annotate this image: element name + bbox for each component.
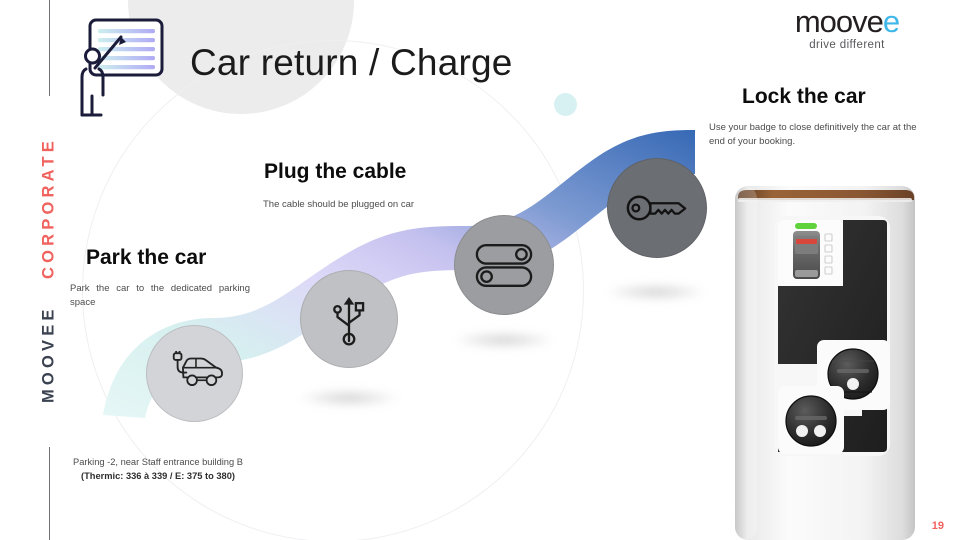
step-circle-plug[interactable] <box>300 270 398 368</box>
parking-caption-line1: Parking -2, near Staff entrance <box>73 457 199 467</box>
step-description-plug: The cable should be plugged on car <box>263 198 493 212</box>
key-icon <box>626 192 688 224</box>
logo-name-accent: e <box>883 4 899 39</box>
logo-name-main: moove <box>795 4 883 39</box>
parking-caption-bold: (Thermic: 336 à 339 / E: 375 to 380) <box>60 470 256 484</box>
circle-shadow <box>452 330 556 350</box>
rail-line-top <box>49 0 50 96</box>
presenter-whiteboard-icon <box>68 12 168 122</box>
sidebar-brand-moovee: MOOVEE <box>40 305 58 403</box>
electric-car-icon <box>166 351 224 396</box>
circle-shadow <box>604 282 708 302</box>
page-title: Car return / Charge <box>190 42 513 84</box>
decorative-teal-dot <box>554 93 577 116</box>
logo-wordmark: moovee <box>762 6 932 37</box>
logo-tagline: drive different <box>762 39 932 51</box>
slide-canvas: MOOVEE CORPORATE <box>0 0 960 540</box>
page-number: 19 <box>932 520 944 532</box>
sidebar-brand-vertical: MOOVEE CORPORATE <box>40 137 59 403</box>
rail-line-bottom <box>49 447 50 540</box>
toggle-switches-icon <box>474 243 534 288</box>
step-circle-settings[interactable] <box>454 215 554 315</box>
step-circle-park[interactable] <box>146 325 243 422</box>
step-heading-plug: Plug the cable <box>264 160 406 184</box>
parking-caption-line2: building B <box>202 457 243 467</box>
ev-charging-station-photo <box>733 178 920 540</box>
circle-shadow <box>297 388 401 408</box>
step-circle-lock[interactable] <box>607 158 707 258</box>
moovee-logo: moovee drive different <box>762 6 932 51</box>
step-heading-lock: Lock the car <box>742 85 866 109</box>
step-description-lock: Use your badge to close definitively the… <box>709 121 924 148</box>
step-heading-park: Park the car <box>86 246 206 270</box>
sidebar-brand-corporate: CORPORATE <box>40 137 58 279</box>
usb-icon <box>326 291 372 347</box>
parking-location-caption: Parking -2, near Staff entrance building… <box>60 456 256 483</box>
step-description-park: Park the car to the dedicated parking sp… <box>70 282 250 309</box>
